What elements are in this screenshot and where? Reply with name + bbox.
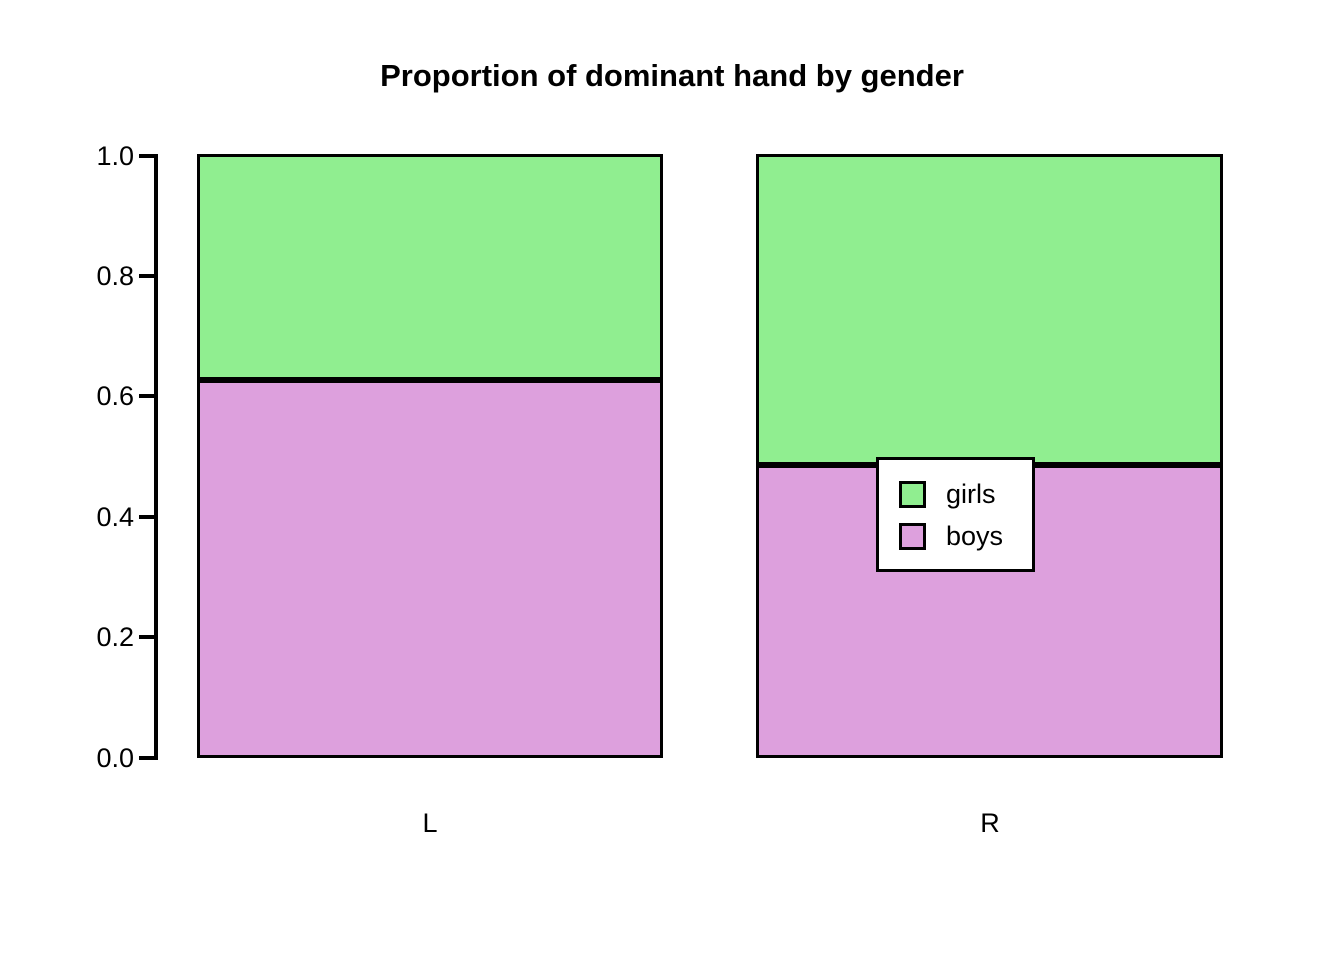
x-tick-label-L: L xyxy=(330,810,530,837)
y-tick-mark-4 xyxy=(139,274,158,278)
chart-title: Proportion of dominant hand by gender xyxy=(0,56,1344,96)
legend[interactable]: girls boys xyxy=(876,457,1035,572)
y-tick-label-4: 0.8 xyxy=(24,263,134,290)
y-tick-label-3: 0.6 xyxy=(24,383,134,410)
stacked-bar-L[interactable] xyxy=(197,154,663,758)
legend-swatch-boys xyxy=(899,523,926,550)
y-tick-mark-0 xyxy=(139,756,158,760)
legend-swatch-girls xyxy=(899,481,926,508)
bar-segment-R-girls[interactable] xyxy=(756,154,1223,465)
x-tick-label-R: R xyxy=(890,810,1090,837)
y-tick-mark-5 xyxy=(139,154,158,158)
y-axis-line xyxy=(154,154,158,760)
y-tick-label-1: 0.2 xyxy=(24,624,134,651)
y-tick-mark-3 xyxy=(139,394,158,398)
chart-canvas: Proportion of dominant hand by gender 0.… xyxy=(0,0,1344,960)
y-tick-mark-2 xyxy=(139,515,158,519)
y-tick-label-2: 0.4 xyxy=(24,504,134,531)
y-tick-label-0: 0.0 xyxy=(24,745,134,772)
stacked-bar-R[interactable] xyxy=(756,154,1223,758)
legend-label-boys: boys xyxy=(946,523,1003,550)
y-tick-mark-1 xyxy=(139,635,158,639)
legend-label-girls: girls xyxy=(946,481,996,508)
y-tick-label-5: 1.0 xyxy=(24,143,134,170)
legend-item-girls[interactable]: girls xyxy=(899,481,996,508)
legend-item-boys[interactable]: boys xyxy=(899,523,1003,550)
bar-segment-L-boys[interactable] xyxy=(197,380,663,758)
bar-segment-L-girls[interactable] xyxy=(197,154,663,380)
